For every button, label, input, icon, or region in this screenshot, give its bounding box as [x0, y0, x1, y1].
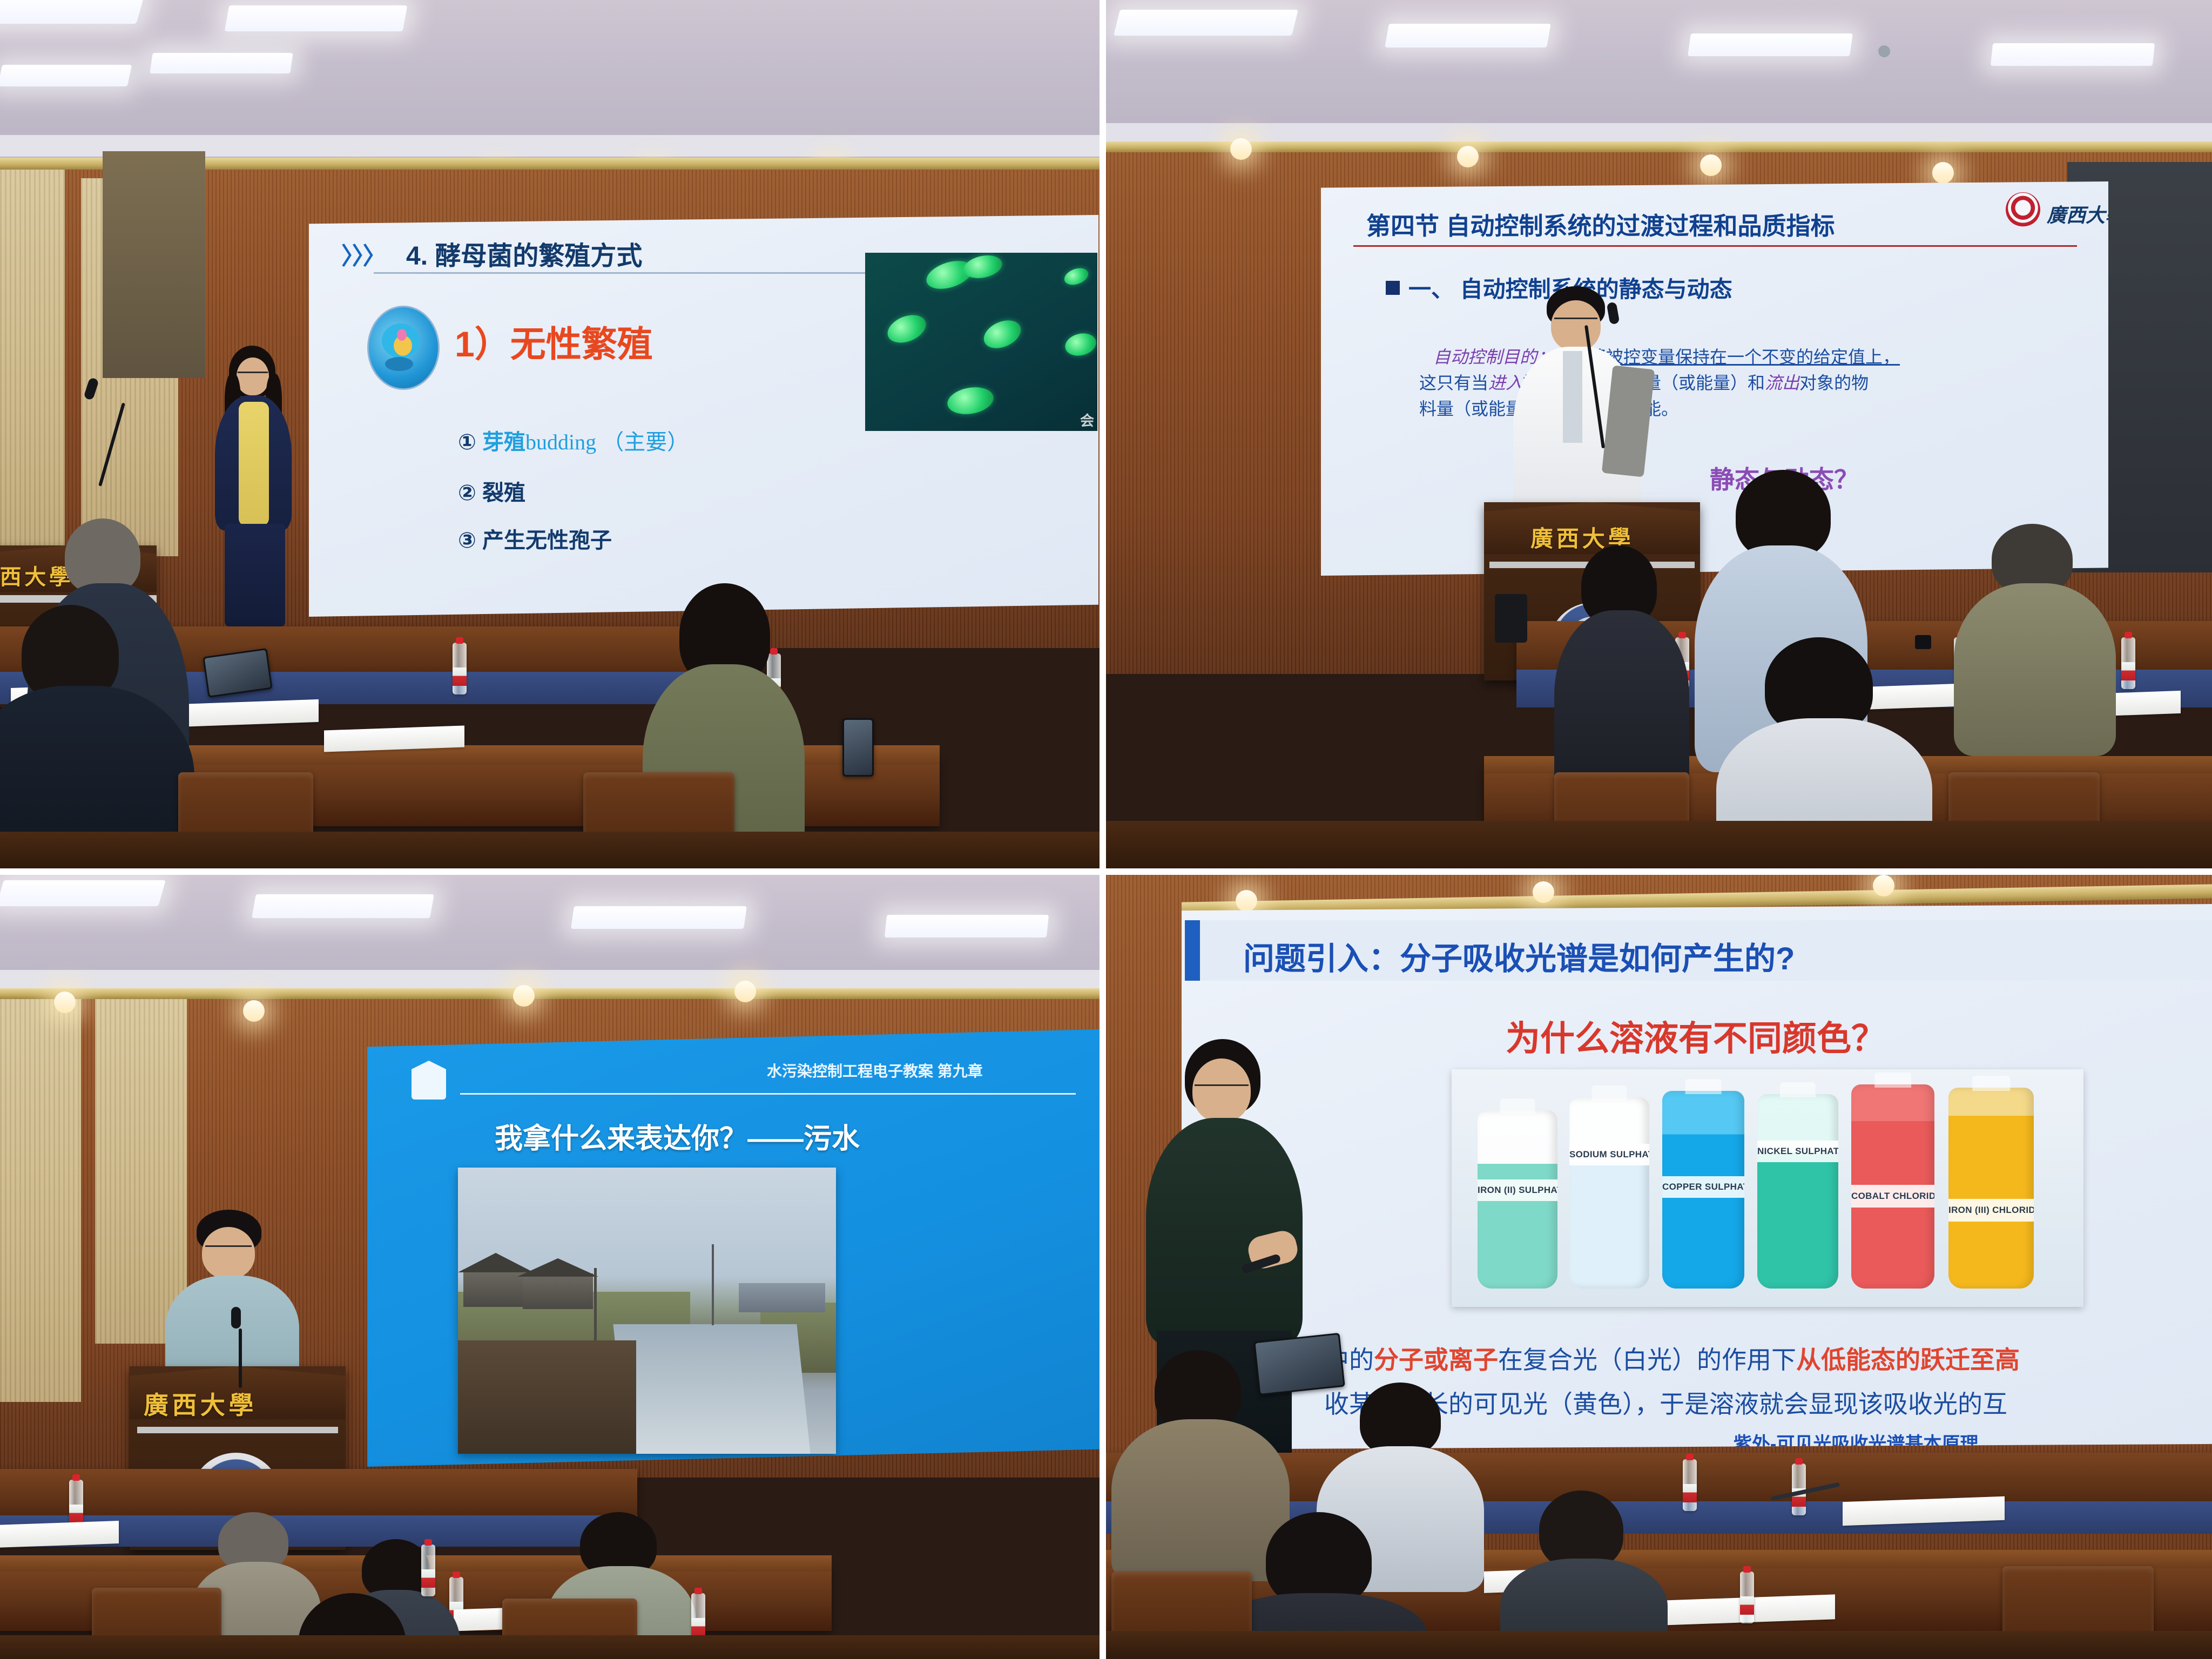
bottle-5: IRON (III) CHLORIDE [1948, 1088, 2034, 1289]
glasses-icon [1915, 635, 1931, 649]
slide-item-1-note: （主要） [602, 430, 689, 454]
chevron-icon: 〉〉〉 [341, 237, 385, 271]
microphone-stem [239, 1328, 242, 1388]
water-bottle [421, 1545, 435, 1596]
microscopy-watermark: 会 [1080, 410, 1094, 430]
floor [1106, 1631, 2212, 1659]
spot-light [1457, 146, 1479, 167]
ceiling-light [1385, 24, 1551, 48]
slide-item-1-cn: 芽殖 [482, 430, 525, 454]
slide-body-line-1: 中的分子或离子在复合光（白光）的作用下从低能态的跃迁至高 [1324, 1340, 2020, 1376]
body-line1-d: 从低能态的跃迁至高 [1796, 1346, 2020, 1374]
bullet-square-icon [1386, 281, 1400, 295]
body-line1-b: 分子或离子 [1374, 1346, 1498, 1374]
spot-light [1932, 162, 1954, 184]
spot-light [513, 985, 535, 1007]
gold-trim [1106, 141, 2212, 152]
floor [1106, 821, 2212, 868]
audience-member [1959, 524, 2110, 751]
slide-item-1-marker: ① [458, 430, 476, 454]
wall-panel-light [0, 162, 65, 572]
bottle-1: SODIUM SULPHATE [1569, 1097, 1649, 1289]
presenter [162, 1210, 302, 1388]
projection-screen: 水污染控制工程电子教案 第九章 我拿什么来表达你？——污水 [367, 1029, 1100, 1467]
slide-title: 第四节 自动控制系统的过渡过程和品质指标 [1366, 206, 1835, 241]
slide-title: 4. 酵母菌的繁殖方式 [406, 234, 642, 272]
spot-light [243, 1000, 265, 1022]
bottle-0: IRON (II) SULPHATE [1478, 1110, 1557, 1289]
smartphone [842, 718, 874, 777]
slide-title: 我拿什么来表达你？——污水 [495, 1116, 860, 1156]
collage-stage: 〉〉〉 4. 酵母菌的繁殖方式 1）无性繁殖 ① 芽殖budding （主要） … [0, 0, 2212, 1659]
ceiling-light [1688, 33, 1853, 56]
audience-member [0, 605, 184, 868]
floor [0, 1635, 1100, 1659]
slide-item-1-en: budding [525, 430, 596, 454]
microscopy-image: 会 [865, 253, 1097, 431]
ceiling-light [252, 894, 434, 918]
slide-heading: 1）无性繁殖 [455, 315, 653, 367]
pollution-photo [458, 1168, 836, 1454]
slide-item-2: ② 裂殖 [458, 475, 525, 507]
ceiling-light [225, 5, 407, 31]
bottle-4: COBALT CHLORIDE [1851, 1084, 1934, 1289]
ceiling-light [1991, 43, 2155, 66]
gold-trim [0, 988, 1100, 999]
bottle-4-label: COBALT CHLORIDE [1851, 1185, 1934, 1208]
audience-member [1560, 545, 1678, 799]
floor [0, 832, 1100, 868]
body-line2-e: 对象的物 [1799, 373, 1869, 393]
projection-screen: 〉〉〉 4. 酵母菌的繁殖方式 1）无性繁殖 ① 芽殖budding （主要） … [309, 215, 1098, 617]
podium-label: 廣西大學 [144, 1386, 257, 1421]
university-logo-icon [2006, 192, 2040, 227]
bottle-3-label: NICKEL SULPHATE [1757, 1141, 1838, 1162]
bottle-5-label: IRON (III) CHLORIDE [1948, 1199, 2034, 1222]
slide-item-3-cn: 产生无性孢子 [482, 529, 612, 552]
bottle-1-label: SODIUM SULPHATE [1569, 1144, 1649, 1165]
ceiling-light [571, 906, 747, 929]
bottle-3: NICKEL SULPHATE [1757, 1094, 1838, 1289]
panel-4-spectroscopy-lecture: 问题引入：分子吸收光谱是如何产生的? 为什么溶液有不同颜色？ IRON (II)… [1106, 875, 2212, 1659]
bottles-photo: IRON (II) SULPHATE SODIUM SULPHATE COPPE… [1452, 1069, 2083, 1307]
water-bottle [1740, 1572, 1754, 1623]
microphone [231, 1307, 241, 1328]
spot-light [1533, 881, 1554, 903]
title-underline [1353, 245, 2077, 247]
slide-body-line-1: 自动控制目的：希望将被控变量保持在一个不变的给定值上， [1433, 343, 1900, 368]
spot-light [1873, 875, 1894, 896]
university-emblem-icon [412, 1061, 446, 1100]
header-rule [460, 1093, 1076, 1095]
ceiling-light [0, 880, 166, 906]
ceiling-light [150, 53, 293, 73]
papers [0, 1521, 119, 1548]
slide-question-1: 问题引入：分子吸收光谱是如何产生的? [1243, 933, 1795, 979]
spot-light [734, 981, 756, 1002]
slide-item-2-marker: ② [458, 481, 476, 505]
spot-light [1230, 138, 1252, 160]
ceiling-light [0, 65, 132, 86]
slide-item-3: ③ 产生无性孢子 [458, 523, 612, 554]
smoke-detector-icon [1878, 45, 1890, 57]
ceiling-light [1114, 10, 1298, 36]
slide-header: 水污染控制工程电子教案 第九章 [767, 1060, 983, 1081]
bottle-2-label: COPPER SULPHATE [1662, 1176, 1744, 1198]
body-line2-d: 流出 [1765, 373, 1799, 393]
slide-item-1: ① 芽殖budding （主要） [458, 424, 689, 456]
water-bottle [2121, 637, 2135, 689]
ceiling-light [0, 0, 145, 24]
slide-item-2-cn: 裂殖 [482, 481, 525, 505]
body-line1-c: 在复合光（白光）的作用下 [1498, 1346, 1796, 1374]
water-bottle [1683, 1459, 1697, 1511]
slide-item-3-marker: ③ [458, 529, 476, 552]
panel-2-control-systems-lecture: 第四节 自动控制系统的过渡过程和品质指标 廣西大學 一、 自动控制系统的静态与动… [1106, 0, 2212, 868]
spot-light [1236, 890, 1257, 912]
panel-1-yeast-lecture: 〉〉〉 4. 酵母菌的繁殖方式 1）无性繁殖 ① 芽殖budding （主要） … [0, 0, 1100, 868]
yeast-cell-icon [367, 306, 440, 390]
bottle-2: COPPER SULPHATE [1662, 1091, 1744, 1289]
bottle-0-label: IRON (II) SULPHATE [1478, 1179, 1557, 1201]
water-bottle [453, 643, 467, 694]
curtain [103, 151, 205, 378]
spot-light [1700, 154, 1722, 176]
presenter [205, 346, 302, 626]
slide-question-2: 为什么溶液有不同颜色？ [1506, 1011, 1886, 1061]
speaker-box [1495, 594, 1527, 643]
body-line2-a: 这只有当 [1419, 373, 1488, 393]
spot-light [54, 992, 76, 1013]
title-accent-bar [1185, 920, 1200, 981]
ceiling-light [885, 915, 1049, 938]
panel-3-water-pollution-lecture: 水污染控制工程电子教案 第九章 我拿什么来表达你？——污水 [0, 875, 1100, 1659]
wall-panel-light [0, 992, 81, 1402]
